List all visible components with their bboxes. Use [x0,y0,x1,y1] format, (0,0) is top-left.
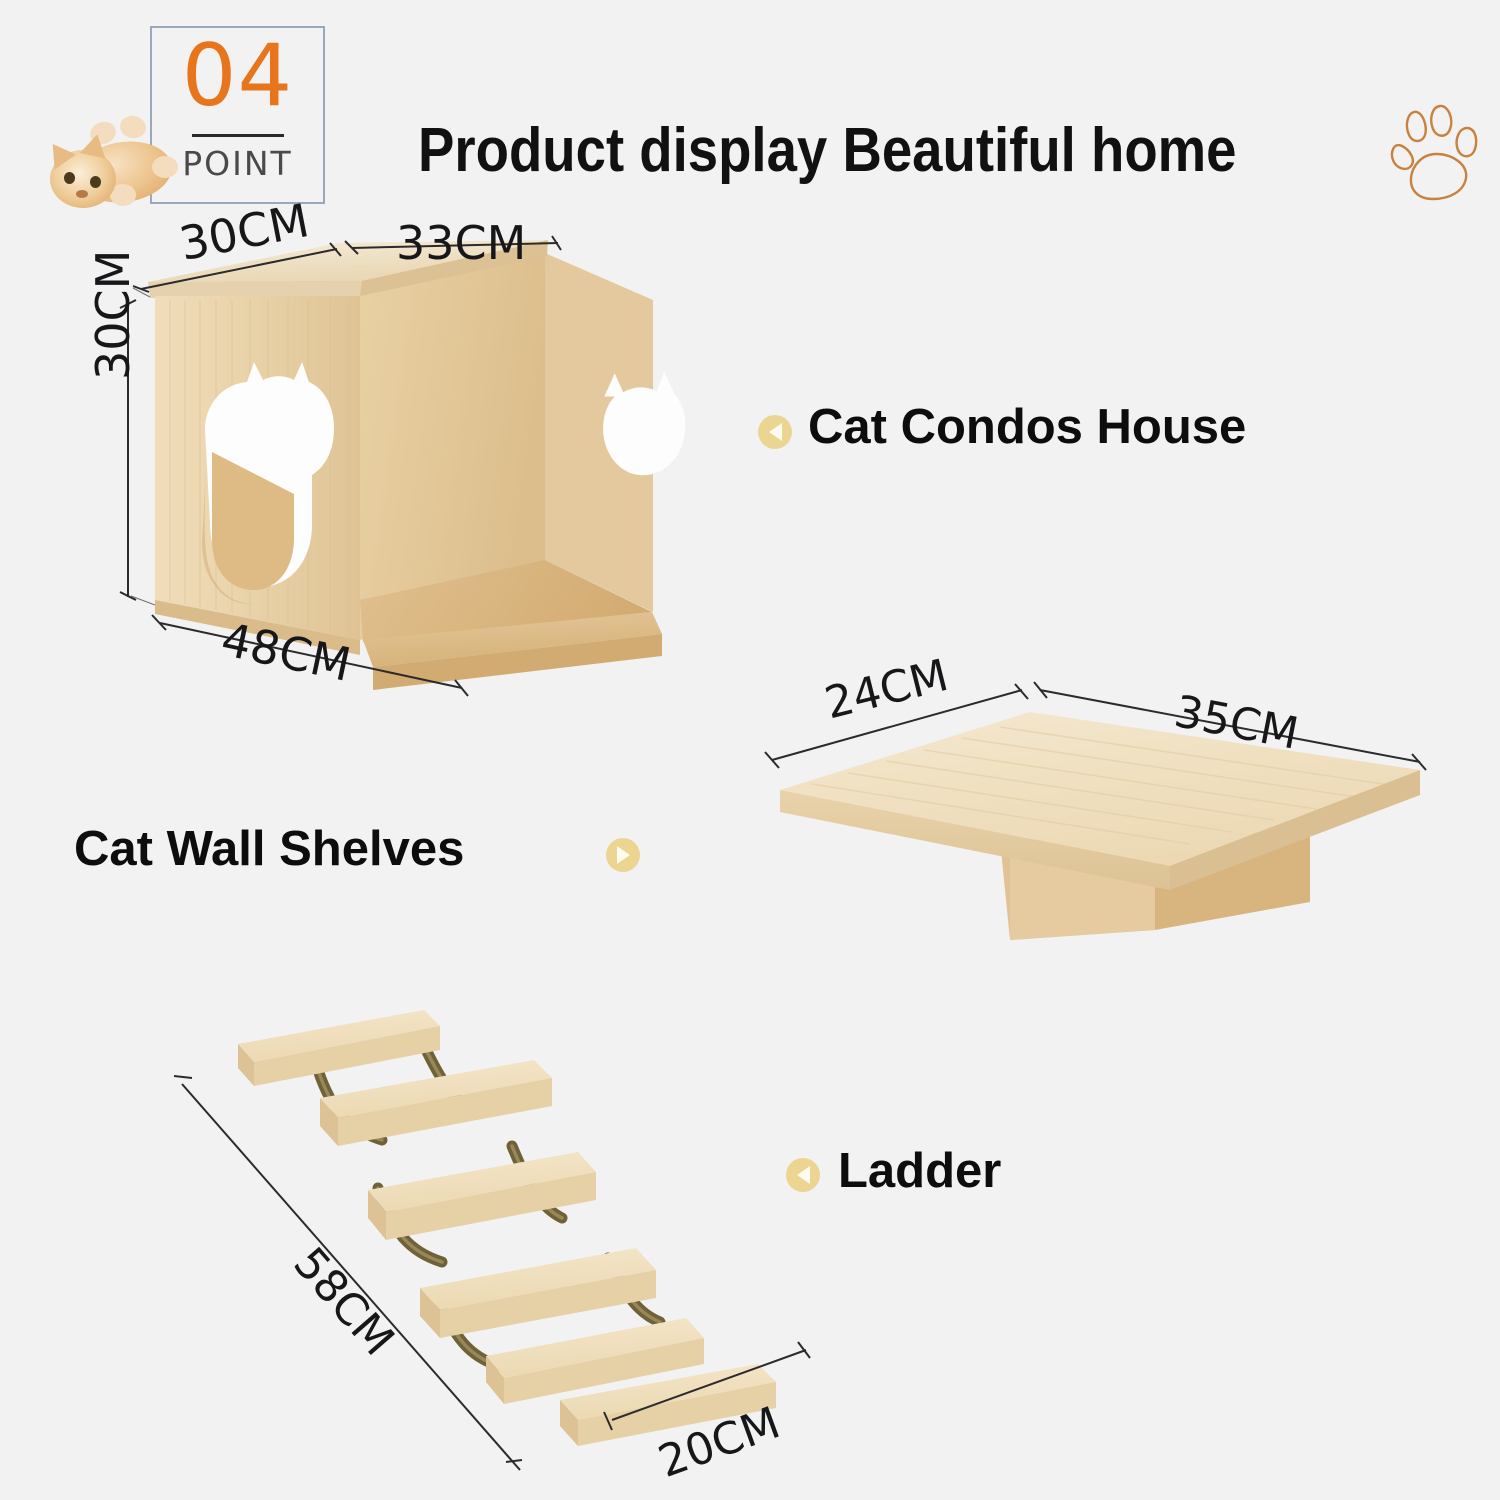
ladder-illustration [174,1010,810,1470]
bullet-cat-wall-shelves[interactable] [606,838,640,872]
bullet-cat-condos-house[interactable] [758,415,792,449]
bullet-ladder[interactable] [786,1158,820,1192]
condo-dim-30cm-height: 30CM [86,250,140,380]
product-display-page: 04 POINT Product display Beautiful home [0,0,1500,1500]
label-ladder: Ladder [838,1142,1001,1200]
condo-dim-33cm-width: 33CM [396,216,526,270]
label-cat-wall-shelves: Cat Wall Shelves [74,820,464,878]
label-cat-condos-house: Cat Condos House [808,398,1246,456]
